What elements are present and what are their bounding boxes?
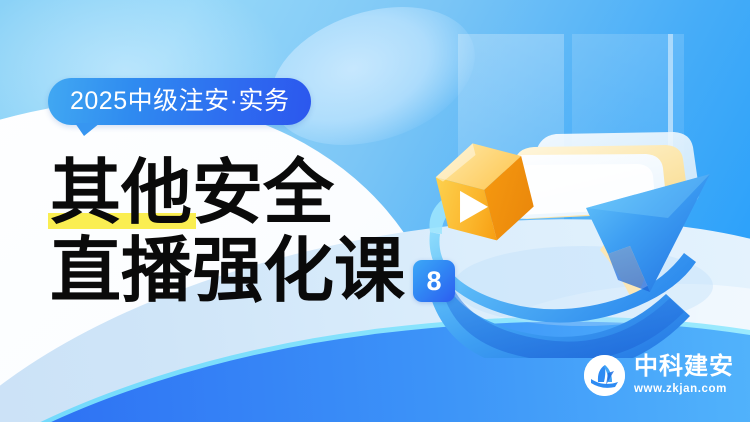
course-tagline-text: 2025中级注安·实务 — [70, 89, 289, 114]
headline-line-1-row: 其他安全 — [50, 155, 455, 229]
brand-name: 中科建安 — [634, 355, 734, 379]
course-poster: 2025中级注安·实务 其他安全 直播强化课 8 中科建安 — [0, 0, 750, 422]
tagline-bubble-tail — [75, 123, 100, 136]
headline-line-2-row: 直播强化课 8 — [50, 233, 455, 307]
brand-text-block: 中科建安 www.zkjan.com — [634, 355, 734, 396]
brand-logo: 中科建安 www.zkjan.com — [584, 355, 734, 396]
zkjan-circle-logo-icon — [584, 355, 625, 396]
poster-headline: 其他安全 直播强化课 8 — [50, 155, 455, 307]
episode-number-text: 8 — [427, 268, 442, 295]
episode-number-badge: 8 — [413, 260, 455, 302]
folder-play-cube-arrow-illustration — [418, 18, 738, 358]
brand-url: www.zkjan.com — [634, 384, 734, 396]
headline-line-2: 直播强化课 — [50, 233, 405, 307]
course-tagline-badge: 2025中级注安·实务 — [48, 78, 311, 125]
headline-line-1: 其他安全 — [50, 155, 334, 229]
